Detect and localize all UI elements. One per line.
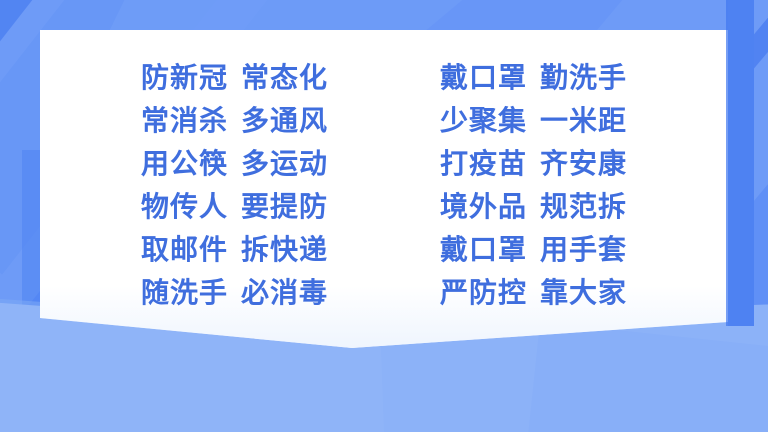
slogan-column-right: 戴口罩 勤洗手 少聚集 一米距 打疫苗 齐安康 境外品 规范拆 戴口罩 用手套 …: [440, 56, 627, 314]
slogan-line: 随洗手 必消毒: [141, 271, 328, 314]
slogan-column-left: 防新冠 常态化 常消杀 多通风 用公筷 多运动 物传人 要提防 取邮件 拆快递 …: [141, 56, 328, 314]
slogan-phrase: 要提防: [241, 185, 328, 228]
slogan-phrase: 齐安康: [540, 142, 627, 185]
slogan-phrase: 多通风: [241, 99, 328, 142]
slogan-phrase: 勤洗手: [540, 56, 627, 99]
slogan-line: 取邮件 拆快递: [141, 228, 328, 271]
slogan-phrase: 一米距: [540, 99, 627, 142]
slogan-phrase: 用手套: [540, 228, 627, 271]
slogan-grid: 防新冠 常态化 常消杀 多通风 用公筷 多运动 物传人 要提防 取邮件 拆快递 …: [40, 56, 728, 314]
slogan-phrase: 防新冠: [141, 56, 228, 99]
slogan-line: 用公筷 多运动: [141, 142, 328, 185]
slogan-phrase: 严防控: [440, 271, 527, 314]
slogan-line: 戴口罩 用手套: [440, 228, 627, 271]
slogan-line: 防新冠 常态化: [141, 56, 328, 99]
slogan-phrase: 规范拆: [540, 185, 627, 228]
slogan-phrase: 靠大家: [540, 271, 627, 314]
slogan-phrase: 境外品: [440, 185, 527, 228]
slogan-phrase: 多运动: [241, 142, 328, 185]
slogan-phrase: 常消杀: [141, 99, 228, 142]
slogan-line: 少聚集 一米距: [440, 99, 627, 142]
slogan-phrase: 戴口罩: [440, 56, 527, 99]
slogan-phrase: 随洗手: [141, 271, 228, 314]
slogan-line: 严防控 靠大家: [440, 271, 627, 314]
slogan-phrase: 必消毒: [241, 271, 328, 314]
slogan-phrase: 拆快递: [241, 228, 328, 271]
slogan-phrase: 取邮件: [141, 228, 228, 271]
slogan-line: 打疫苗 齐安康: [440, 142, 627, 185]
slogan-phrase: 常态化: [241, 56, 328, 99]
slogan-line: 境外品 规范拆: [440, 185, 627, 228]
slogan-phrase: 物传人: [141, 185, 228, 228]
slogan-phrase: 打疫苗: [440, 142, 527, 185]
slide-canvas: 防新冠 常态化 常消杀 多通风 用公筷 多运动 物传人 要提防 取邮件 拆快递 …: [0, 0, 768, 432]
slogan-phrase: 戴口罩: [440, 228, 527, 271]
slogan-phrase: 少聚集: [440, 99, 527, 142]
slogan-line: 戴口罩 勤洗手: [440, 56, 627, 99]
slogan-line: 物传人 要提防: [141, 185, 328, 228]
slogan-line: 常消杀 多通风: [141, 99, 328, 142]
slogan-phrase: 用公筷: [141, 142, 228, 185]
